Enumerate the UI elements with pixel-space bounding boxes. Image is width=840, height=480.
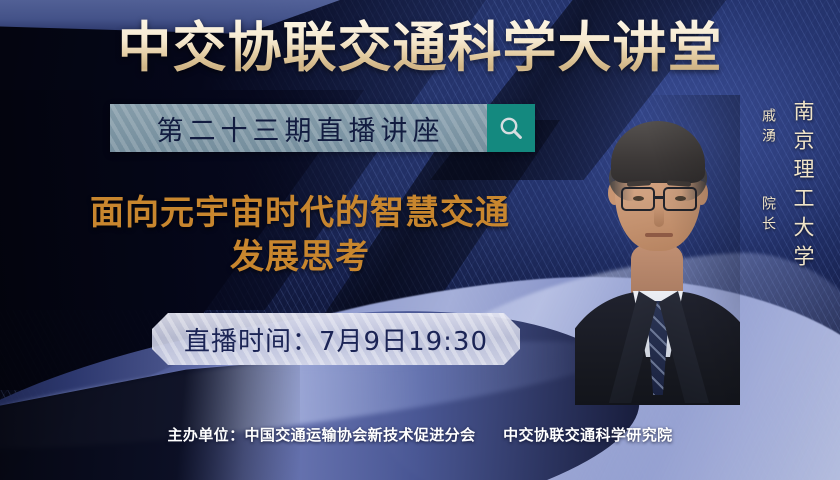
search-icon [498,115,524,141]
speaker-name: 戚湧 [758,108,778,148]
portrait-glasses-left-lens [621,187,655,211]
footer-organizers: 主办单位：中国交通运输协会新技术促进分会 中交协联交通科学研究院 [0,424,840,445]
speaker-portrait [575,95,740,405]
poster-title: 中交协联交通科学大讲堂 [0,18,840,77]
search-icon-box[interactable] [487,104,535,152]
broadcast-time-pill: 直播时间：7月9日19:30 [152,313,520,365]
lecture-topic-line-2: 发展思考 [40,236,560,280]
broadcast-time-text: 直播时间：7月9日19:30 [184,321,488,358]
speaker-university: 南京理工大学 [788,100,818,274]
portrait-glasses-right-lens [663,187,697,211]
portrait-glasses-bridge [655,196,663,199]
lecture-topic: 面向元宇宙时代的智慧交通 发展思考 [40,192,560,279]
portrait-nose [654,207,664,227]
episode-bar: 第二十三期直播讲座 [110,104,535,152]
episode-bar-body: 第二十三期直播讲座 [110,104,487,152]
lecture-topic-line-1: 面向元宇宙时代的智慧交通 [40,192,560,236]
portrait-hair [611,121,705,183]
episode-label: 第二十三期直播讲座 [153,109,445,148]
speaker-role: 院长 [758,196,778,236]
livestream-poster: 中交协联交通科学大讲堂 第二十三期直播讲座 面向元宇宙时代的智慧交通 发展思考 … [0,0,840,480]
portrait-mouth [645,233,673,237]
footer-organizer-primary: 主办单位：中国交通运输协会新技术促进分会 [167,426,475,444]
footer-organizer-secondary: 中交协联交通科学研究院 [503,426,672,444]
